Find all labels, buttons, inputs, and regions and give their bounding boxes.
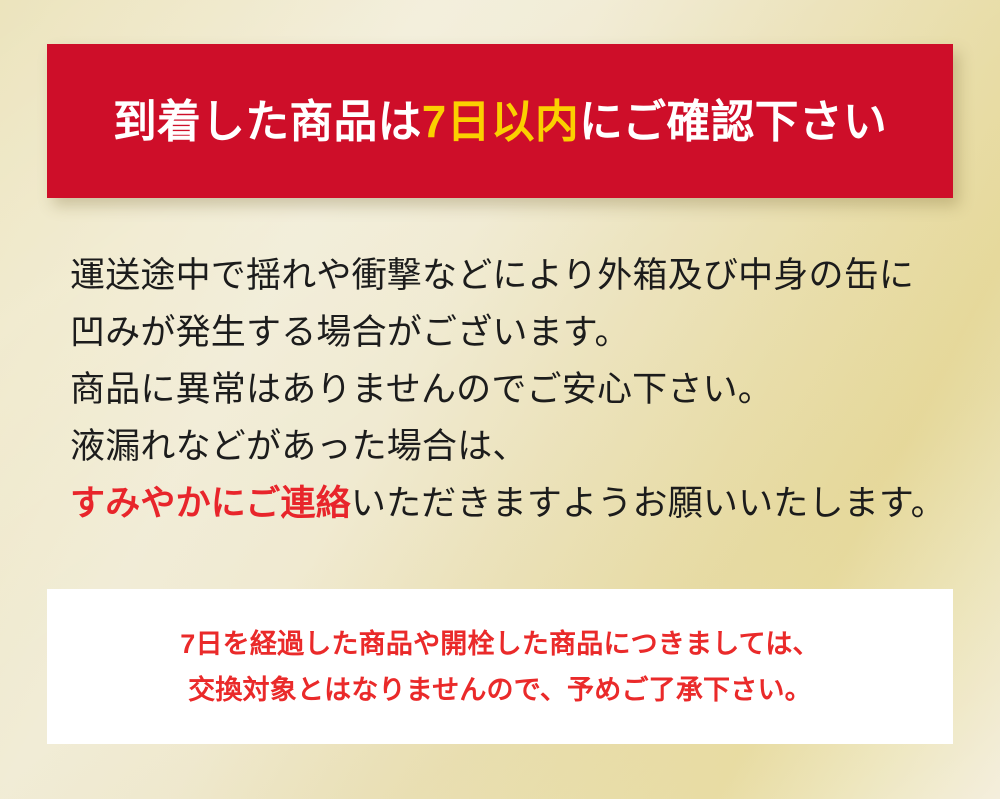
- header-banner-prefix: 到着した商品は: [113, 96, 422, 147]
- body-line-5-rest: いただきますようお願いいたします。: [351, 484, 946, 523]
- body-paragraph: 運送途中で揺れや衝撃などにより外箱及び中身の缶に 凹みが発生する場合がございます…: [70, 247, 950, 532]
- notice-line-1: 7日を経過した商品や開栓した商品につきましては、: [180, 621, 819, 667]
- header-banner-highlight: 7日以内: [422, 96, 579, 147]
- notice-line-2: 交換対象とはなりませんので、予めご了承下さい。: [188, 667, 812, 713]
- shipping-notice-poster: 到着した商品は7日以内にご確認下さい 運送途中で揺れや衝撃などにより外箱及び中身…: [0, 0, 1000, 799]
- exclusion-notice-box: 7日を経過した商品や開栓した商品につきましては、 交換対象とはなりませんので、予…: [47, 589, 953, 744]
- body-line-2: 凹みが発生する場合がございます。: [70, 304, 950, 361]
- body-line-4: 液漏れなどがあった場合は、: [70, 418, 950, 475]
- header-banner: 到着した商品は7日以内にご確認下さい: [47, 44, 953, 198]
- body-line-5-emphasis: すみやかにご連絡: [70, 484, 351, 523]
- header-banner-suffix: にご確認下さい: [579, 96, 887, 147]
- body-line-5: すみやかにご連絡いただきますようお願いいたします。: [70, 475, 950, 532]
- body-line-3: 商品に異常はありませんのでご安心下さい。: [70, 361, 950, 418]
- body-line-1: 運送途中で揺れや衝撃などにより外箱及び中身の缶に: [70, 247, 950, 304]
- header-banner-text: 到着した商品は7日以内にご確認下さい: [113, 99, 887, 144]
